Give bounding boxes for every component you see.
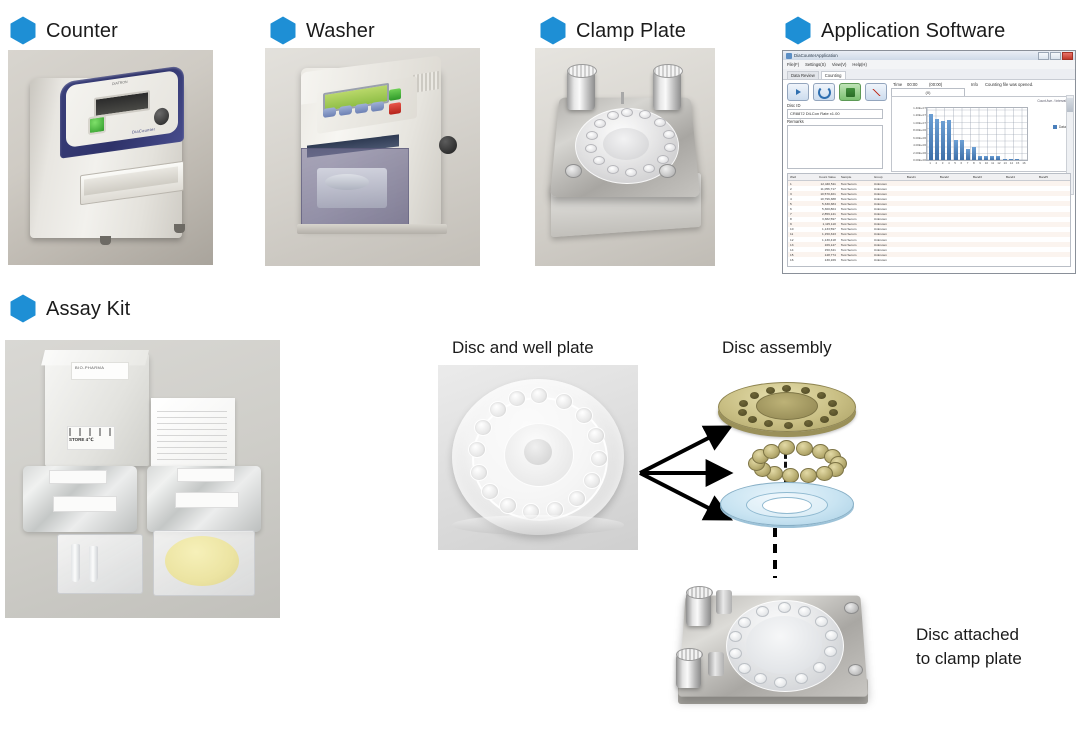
results-table[interactable]: WellCount ValueSampleGroupBand1Band2Band… xyxy=(787,173,1071,267)
chart-bar xyxy=(929,114,933,160)
table-cell: 10,796,388 xyxy=(803,197,839,201)
assembly-top-hole xyxy=(748,416,757,423)
chart-bar xyxy=(1003,159,1007,160)
clamp-screw-upper-right xyxy=(844,602,859,614)
clamp-plate-well xyxy=(621,108,633,117)
table-cell: Test Serum xyxy=(839,212,872,216)
assay-kit-foil-pouch-left-label2 xyxy=(53,496,117,512)
mounted-disc-well xyxy=(738,663,751,674)
legend-swatch xyxy=(1053,125,1057,129)
reset-button[interactable] xyxy=(813,83,835,101)
table-column-header: Band5 xyxy=(1037,175,1070,179)
table-cell: Test Serum xyxy=(839,182,872,186)
counter-foot xyxy=(100,236,111,245)
clamp-plate-well xyxy=(664,143,676,152)
table-cell: Test Serum xyxy=(839,187,872,191)
well-plate-well xyxy=(474,419,492,436)
table-cell: 14 xyxy=(788,248,803,252)
table-cell: 1 xyxy=(788,182,803,186)
chart-ytick: 0.00E+00 xyxy=(913,158,926,162)
remarks-label: Remarks xyxy=(787,119,804,124)
table-cell: 148,774 xyxy=(803,253,839,257)
chart-ytick: 4.00E+06 xyxy=(913,143,926,147)
well-plate-well xyxy=(575,407,593,424)
table-cell: 5 xyxy=(788,202,803,206)
chart-xtick: 14 xyxy=(1010,161,1013,165)
table-cell: 1,150,343 xyxy=(803,232,839,236)
chart-xtick: 10 xyxy=(985,161,988,165)
application-software-screenshot: DiaCounterApplication File(F) Settings(S… xyxy=(782,50,1076,274)
chart-xtick: 1 xyxy=(929,161,931,165)
table-cell: 11,056,717 xyxy=(803,187,839,191)
table-column-header: Band1 xyxy=(905,175,938,179)
clamp-knob-right-top xyxy=(653,64,683,78)
chart-bar xyxy=(960,140,964,160)
well-plate-well xyxy=(530,387,548,404)
chart-ytick: 1.00E+07 xyxy=(913,121,926,125)
mounted-disc-well xyxy=(815,616,828,627)
assembly-top-hole xyxy=(764,420,773,427)
hexagon-bullet-icon xyxy=(270,16,296,45)
assay-kit-foil-pouch-right-label2 xyxy=(175,492,239,508)
chart-ytick: 1.20E+07 xyxy=(913,113,926,117)
table-cell: 1,133,597 xyxy=(803,227,839,231)
counting-chart: Count Ave. / Interval 1.40E+071.20E+071.… xyxy=(891,96,1071,172)
table-cell: 13 xyxy=(788,243,803,247)
progress-value: (0) xyxy=(892,89,964,96)
table-cell: Unknown xyxy=(872,192,905,196)
table-cell: 15 xyxy=(788,253,803,257)
play-icon xyxy=(796,89,801,95)
washer-photo xyxy=(265,48,480,266)
table-cell: Unknown xyxy=(872,217,905,221)
chart-ytick: 8.00E+06 xyxy=(913,128,926,132)
counter-foot xyxy=(174,224,185,233)
mounted-disc-well xyxy=(774,677,787,688)
hexagon-bullet-icon xyxy=(540,16,566,45)
well-plate-photo xyxy=(438,365,638,550)
clamp-plate-well xyxy=(654,118,666,127)
table-body: 112,440,511Test SerumUnknown211,056,717T… xyxy=(788,181,1070,263)
chart-plot-area: 1.40E+071.20E+071.00E+078.00E+066.00E+06… xyxy=(926,107,1028,161)
assembly-top-hole xyxy=(782,385,791,392)
chart-xtick: 16 xyxy=(1022,161,1025,165)
table-column-header: Band4 xyxy=(1004,175,1037,179)
chart-bar xyxy=(954,140,958,160)
spreadsheet-icon xyxy=(846,88,855,97)
chart-xtick: 7 xyxy=(967,161,969,165)
well-plate-well xyxy=(470,464,488,481)
table-cell: 150,341 xyxy=(803,248,839,252)
washer-side-knob xyxy=(439,136,457,154)
table-cell: 130,169 xyxy=(803,258,839,262)
table-cell: Unknown xyxy=(872,197,905,201)
table-cell: 10,570,401 xyxy=(803,192,839,196)
clamp-plate-disc-hub xyxy=(603,128,649,160)
table-cell: Unknown xyxy=(872,248,905,252)
mounted-disc-well xyxy=(825,630,838,641)
table-cell: Unknown xyxy=(872,202,905,206)
assembly-top-hole xyxy=(817,392,826,399)
chart-xtick: 13 xyxy=(1003,161,1006,165)
section-header-assay-kit: Assay Kit xyxy=(10,294,130,323)
hexagon-bullet-icon xyxy=(10,294,36,323)
assembly-bead xyxy=(778,440,795,455)
table-cell: Test Serum xyxy=(839,202,872,206)
menu-item-help[interactable]: Help(H) xyxy=(852,62,866,67)
assay-kit-photo: BIO-PHARMA STORE 4℃ xyxy=(5,340,280,618)
table-cell: Unknown xyxy=(872,212,905,216)
table-cell: 2,859,141 xyxy=(803,212,839,216)
export-button[interactable] xyxy=(839,83,861,101)
table-cell: 5,330,384 xyxy=(803,202,839,206)
table-cell: Test Serum xyxy=(839,253,872,257)
assembly-top-hole xyxy=(784,422,793,429)
mounted-disc-well xyxy=(756,606,769,617)
chart-ytick: 1.40E+07 xyxy=(913,106,926,110)
table-column-header: Band2 xyxy=(938,175,971,179)
caption-disc-and-well-plate: Disc and well plate xyxy=(452,338,594,358)
table-cell: 3,382,597 xyxy=(803,217,839,221)
clamp-plate-well xyxy=(663,130,675,139)
table-cell: Test Serum xyxy=(839,232,872,236)
waveform-icon xyxy=(871,89,882,96)
assembly-top-hole xyxy=(738,409,747,416)
tab-data-review[interactable]: Data Review xyxy=(787,71,819,79)
table-cell: 7 xyxy=(788,212,803,216)
chart-bar xyxy=(941,121,945,160)
clamp-knob-lower-left-top xyxy=(676,648,703,661)
table-cell: 3 xyxy=(788,192,803,196)
well-plate-well xyxy=(583,472,601,489)
table-cell: Test Serum xyxy=(839,207,872,211)
table-cell: Test Serum xyxy=(839,197,872,201)
well-plate-well xyxy=(590,450,608,467)
menu-item-file[interactable]: File(F) xyxy=(787,62,799,67)
washer-stop-button xyxy=(389,102,401,115)
well-plate-well xyxy=(481,483,499,500)
assay-kit-tube-bag xyxy=(57,534,143,594)
time-label: Time xyxy=(893,82,902,87)
assembly-bottom-disc-hole xyxy=(762,497,812,514)
chart-bar xyxy=(972,147,976,160)
chart-bar xyxy=(990,156,994,160)
clamp-plate-photo xyxy=(535,48,715,266)
assembly-top-ring-center-hole xyxy=(756,392,818,420)
table-cell: Unknown xyxy=(872,182,905,186)
time-value: 00:00 xyxy=(907,82,917,87)
counter-photo: DIATRON DiaCounter xyxy=(8,50,213,265)
assembly-top-hole xyxy=(820,416,829,423)
mounted-disc-well xyxy=(795,673,808,684)
caption-disc-attached-line2: to clamp plate xyxy=(916,648,1022,671)
disc-id-field[interactable]: CR8872 DiLCon Rate x1.00 xyxy=(787,109,883,119)
mounted-disc-well xyxy=(813,662,826,673)
chart-bar xyxy=(1015,159,1019,160)
graph-button[interactable] xyxy=(865,83,887,101)
maximize-button[interactable] xyxy=(1050,52,1061,60)
table-cell: 12 xyxy=(788,238,803,242)
assembly-top-hole xyxy=(828,400,837,407)
assembly-bead xyxy=(782,468,799,483)
assembly-top-hole xyxy=(766,387,775,394)
section-title: Application Software xyxy=(821,21,1005,41)
table-header-row: WellCount ValueSampleGroupBand1Band2Band… xyxy=(788,174,1070,181)
table-cell: Unknown xyxy=(872,232,905,236)
clamp-plate-well xyxy=(607,165,619,174)
clamp-screw-right xyxy=(659,164,676,178)
table-column-header: Band3 xyxy=(971,175,1004,179)
well-plate-hub xyxy=(524,439,552,465)
clamp-post-upper xyxy=(716,590,732,614)
chart-xtick: 2 xyxy=(936,161,938,165)
clamp-screw-left xyxy=(565,164,582,178)
assay-kit-foil-pouch-left-label xyxy=(49,470,107,484)
app-toolbar[interactable] xyxy=(787,83,887,101)
table-cell: Test Serum xyxy=(839,238,872,242)
chart-xtick: 6 xyxy=(961,161,963,165)
clamp-plate-well xyxy=(643,164,655,173)
app-left-panel: Disc ID CR8872 DiLCon Rate x1.00 Remarks xyxy=(787,103,885,169)
washer-internal-disc xyxy=(325,174,369,190)
assay-kit-tube xyxy=(89,546,98,582)
assay-kit-instruction-lines xyxy=(157,408,227,460)
disc-id-value: CR8872 DiLCon Rate x1.00 xyxy=(788,110,882,117)
chart-ytick: 6.00E+06 xyxy=(913,136,926,140)
table-column-header: Well xyxy=(788,175,803,179)
well-plate-well xyxy=(468,441,486,458)
table-cell: Test Serum xyxy=(839,248,872,252)
chart-xtick: 11 xyxy=(991,161,994,165)
washer-base xyxy=(297,224,447,234)
table-column-header: Group xyxy=(872,175,905,179)
assay-kit-foil-pouch-right-label xyxy=(177,468,235,482)
minimize-button[interactable] xyxy=(1038,52,1049,60)
table-cell: Test Serum xyxy=(839,192,872,196)
info-value: Counting file was opened. xyxy=(985,82,1033,87)
section-header-counter: Counter xyxy=(10,16,118,45)
clamp-knob-left-top xyxy=(567,64,597,78)
chart-bar xyxy=(978,156,982,160)
assay-kit-tube xyxy=(71,544,80,582)
clamp-plate-well xyxy=(639,110,651,119)
assembly-bead xyxy=(816,466,833,481)
clamp-knob-upper-left-top xyxy=(686,586,713,599)
hexagon-bullet-icon xyxy=(10,16,36,45)
table-cell: 1,130,418 xyxy=(803,238,839,242)
assembly-bead xyxy=(800,468,817,483)
well-plate-well xyxy=(499,497,517,514)
table-row[interactable]: 16130,169Test SerumUnknown xyxy=(788,257,1070,262)
mounted-disc-well xyxy=(738,617,751,628)
chart-xtick: 3 xyxy=(942,161,944,165)
chart-xtick: 15 xyxy=(1016,161,1019,165)
clamp-plate-well xyxy=(657,155,669,164)
assembly-bead xyxy=(796,441,813,456)
hexagon-bullet-icon xyxy=(785,16,811,45)
table-cell: 11 xyxy=(788,232,803,236)
clamp-plate-alignment-pin xyxy=(621,92,624,104)
assembly-bead xyxy=(763,444,780,459)
assay-kit-handling-icons xyxy=(69,428,111,436)
chart-corner-note: Count Ave. / Interval xyxy=(1037,99,1066,103)
table-cell: Test Serum xyxy=(839,258,872,262)
well-plate-well xyxy=(587,427,605,444)
table-cell: Unknown xyxy=(872,258,905,262)
table-cell: 2 xyxy=(788,187,803,191)
mounted-disc-well xyxy=(729,631,742,642)
assembly-top-hole xyxy=(801,387,810,394)
section-header-clamp-plate: Clamp Plate xyxy=(540,16,686,45)
clamp-plate-well xyxy=(607,111,619,120)
clamp-plate-well xyxy=(594,119,606,128)
table-cell: Test Serum xyxy=(839,243,872,247)
section-header-application-software: Application Software xyxy=(785,16,1005,45)
chart-xtick: 12 xyxy=(997,161,1000,165)
app-window-title: DiaCounterApplication xyxy=(794,53,838,58)
clamp-plate-well xyxy=(585,144,597,153)
clamp-plate-well xyxy=(586,131,598,140)
mounted-disc-well xyxy=(754,673,767,684)
info-label: Info xyxy=(971,82,978,87)
well-plate-well xyxy=(555,393,573,410)
remarks-value xyxy=(788,126,882,128)
well-plate-rim xyxy=(452,515,624,535)
chart-xtick: 9 xyxy=(979,161,981,165)
tab-counting[interactable]: Counting xyxy=(821,71,846,79)
table-cell: Unknown xyxy=(872,227,905,231)
table-cell: 12,440,511 xyxy=(803,182,839,186)
table-cell: Test Serum xyxy=(839,227,872,231)
well-plate-well xyxy=(508,390,526,407)
menu-item-view[interactable]: View(V) xyxy=(832,62,847,67)
clamp-post-lower xyxy=(708,652,724,676)
assembly-top-hole xyxy=(739,400,748,407)
table-column-header: Sample xyxy=(839,175,872,179)
well-plate-well xyxy=(489,401,507,418)
table-cell: Unknown xyxy=(872,187,905,191)
clamp-plate-well xyxy=(625,168,637,177)
table-cell: 169,147 xyxy=(803,243,839,247)
chart-xtick: 8 xyxy=(973,161,975,165)
disc-assembly-diagram xyxy=(700,378,870,528)
scrollbar-thumb[interactable] xyxy=(1067,98,1073,112)
assay-kit-storage-text: STORE 4℃ xyxy=(69,437,94,443)
chart-ytick: 2.00E+06 xyxy=(913,151,926,155)
assay-kit-yellow-disc xyxy=(165,536,239,586)
table-cell: Unknown xyxy=(872,207,905,211)
window-controls[interactable] xyxy=(1038,52,1075,60)
well-plate-well xyxy=(568,490,586,507)
chart-bar xyxy=(996,156,1000,160)
chart-bars xyxy=(927,108,1027,160)
table-cell: 1,115,110 xyxy=(803,222,839,226)
table-cell: 4 xyxy=(788,197,803,201)
washer-start-button xyxy=(389,88,401,101)
chart-bar xyxy=(966,149,970,160)
section-title: Counter xyxy=(46,21,118,41)
assembly-bead-ring xyxy=(726,440,846,478)
caption-disc-assembly: Disc assembly xyxy=(722,338,832,358)
table-cell: 10 xyxy=(788,227,803,231)
table-column-header: Count Value xyxy=(803,175,839,179)
table-cell: 6 xyxy=(788,207,803,211)
table-cell: Unknown xyxy=(872,253,905,257)
menu-item-settings[interactable]: Settings(S) xyxy=(805,62,826,67)
section-header-washer: Washer xyxy=(270,16,375,45)
table-cell: 9 xyxy=(788,222,803,226)
chart-xtick: 4 xyxy=(948,161,950,165)
refresh-icon xyxy=(818,86,831,99)
legend-label: Data xyxy=(1059,125,1066,129)
clamp-plate-well xyxy=(593,156,605,165)
assembly-top-hole xyxy=(829,409,838,416)
table-cell: Unknown xyxy=(872,222,905,226)
mounted-disc-inner xyxy=(746,616,822,674)
app-tabstrip[interactable]: Data Review Counting xyxy=(783,69,1075,80)
section-title: Assay Kit xyxy=(46,299,130,319)
table-cell: Unknown xyxy=(872,243,905,247)
chart-xtick: 5 xyxy=(954,161,956,165)
mounted-disc-well xyxy=(778,602,791,613)
chart-bar xyxy=(947,120,951,160)
clamp-screw-lower-right xyxy=(848,664,863,676)
table-cell: 16 xyxy=(788,258,803,262)
chart-bar xyxy=(935,119,939,160)
section-title: Clamp Plate xyxy=(576,21,686,41)
mounted-disc-well xyxy=(824,646,837,657)
app-icon xyxy=(786,53,792,59)
assembly-top-hole xyxy=(804,420,813,427)
start-button[interactable] xyxy=(787,83,809,101)
table-cell: 5,300,804 xyxy=(803,207,839,211)
counter-green-button xyxy=(88,115,106,136)
assembly-top-hole xyxy=(750,392,759,399)
mounted-disc-well xyxy=(729,648,742,659)
chart-legend: Data xyxy=(1053,125,1066,129)
chart-bar xyxy=(1009,159,1013,160)
chart-bar xyxy=(984,156,988,160)
assay-kit-box-label-text: BIO-PHARMA xyxy=(75,365,104,370)
table-cell: 8 xyxy=(788,217,803,221)
caption-disc-attached-line1: Disc attached xyxy=(916,624,1019,647)
table-cell: Test Serum xyxy=(839,217,872,221)
section-title: Washer xyxy=(306,21,375,41)
time-remaining: (00:00) xyxy=(929,82,942,87)
table-cell: Test Serum xyxy=(839,222,872,226)
close-button[interactable] xyxy=(1062,52,1073,60)
mounted-disc-well xyxy=(798,606,811,617)
remarks-field[interactable] xyxy=(787,125,883,169)
disc-id-label: Disc ID xyxy=(787,103,801,108)
table-cell: Unknown xyxy=(872,238,905,242)
disc-attached-to-clamp-plate-photo xyxy=(668,578,883,718)
